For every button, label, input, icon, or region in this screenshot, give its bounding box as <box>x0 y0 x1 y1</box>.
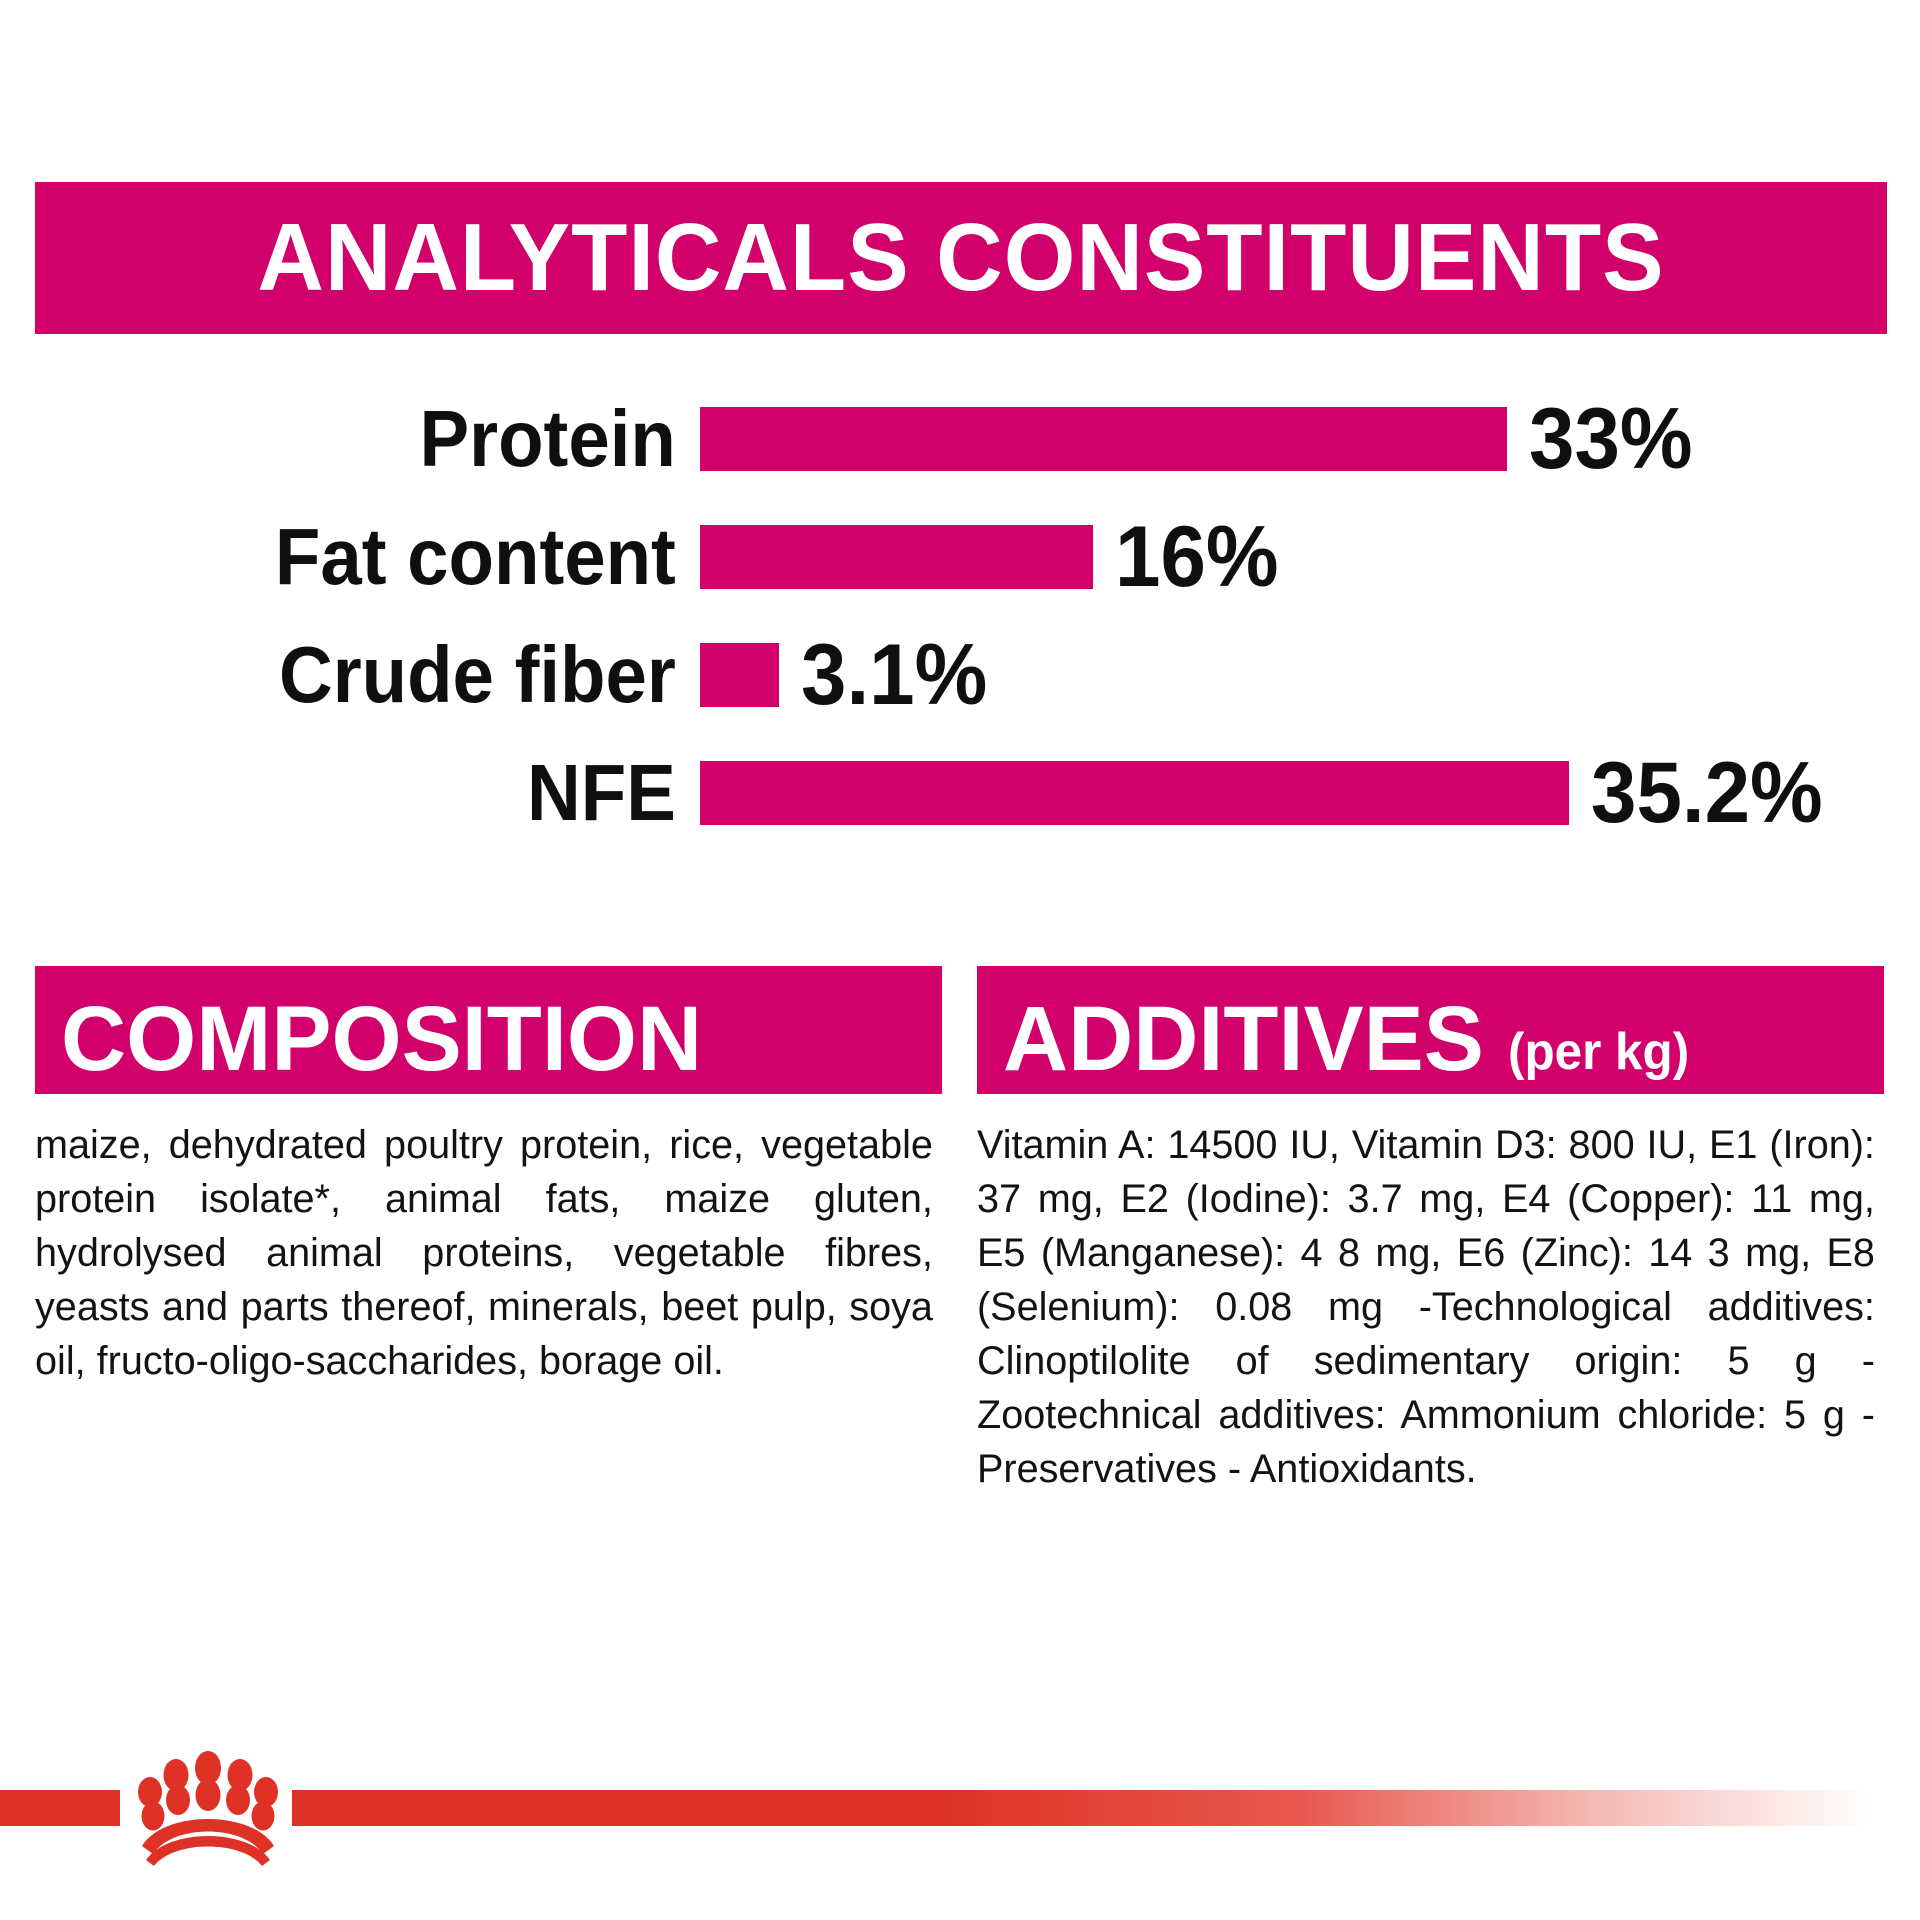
info-panels: COMPOSITION maize, dehydrated poultry pr… <box>35 966 1885 1496</box>
analytical-constituents-banner: ANALYTICALS CONSTITUENTS <box>35 182 1887 334</box>
footer <box>0 1748 1920 1868</box>
chart-bar-wrap: 35.2% <box>700 750 1920 836</box>
chart-bar-nfe <box>700 761 1569 825</box>
chart-row: NFE 35.2% <box>0 734 1920 852</box>
chart-bar-wrap: 33% <box>700 396 1920 482</box>
chart-label-crude-fiber: Crude fiber <box>49 635 700 715</box>
additives-header: ADDITIVES (per kg) <box>977 966 1884 1094</box>
chart-label-protein: Protein <box>49 399 700 479</box>
chart-value-nfe: 35.2% <box>1591 750 1823 836</box>
composition-panel: COMPOSITION maize, dehydrated poultry pr… <box>35 966 942 1496</box>
chart-value-protein: 33% <box>1529 396 1693 482</box>
chart-row: Fat content 16% <box>0 498 1920 616</box>
chart-label-fat-content: Fat content <box>49 517 700 597</box>
chart-row: Protein 33% <box>0 380 1920 498</box>
chart-row: Crude fiber 3.1% <box>0 616 1920 734</box>
chart-bar-wrap: 3.1% <box>700 632 1920 718</box>
analytical-constituents-chart: Protein 33% Fat content 16% Crude fiber … <box>0 380 1920 852</box>
additives-title: ADDITIVES <box>1003 994 1484 1084</box>
additives-panel: ADDITIVES (per kg) Vitamin A: 14500 IU, … <box>977 966 1884 1496</box>
chart-bar-wrap: 16% <box>700 514 1920 600</box>
footer-stripe-left <box>0 1790 120 1826</box>
additives-body: Vitamin A: 14500 IU, Vitamin D3: 800 IU,… <box>977 1094 1875 1496</box>
analytical-constituents-title: ANALYTICALS CONSTITUENTS <box>257 210 1664 306</box>
chart-value-fat-content: 16% <box>1115 514 1279 600</box>
chart-value-crude-fiber: 3.1% <box>801 632 987 718</box>
chart-bar-crude-fiber <box>700 643 779 707</box>
chart-bar-fat-content <box>700 525 1093 589</box>
chart-label-nfe: NFE <box>49 753 700 833</box>
footer-stripe-right <box>292 1790 1920 1826</box>
royal-canin-crown-icon <box>128 1748 288 1868</box>
chart-bar-protein <box>700 407 1507 471</box>
additives-per-kg-label: (per kg) <box>1508 1026 1689 1084</box>
composition-title: COMPOSITION <box>61 994 702 1084</box>
composition-header: COMPOSITION <box>35 966 942 1094</box>
composition-body: maize, dehydrated poultry protein, rice,… <box>35 1094 933 1388</box>
